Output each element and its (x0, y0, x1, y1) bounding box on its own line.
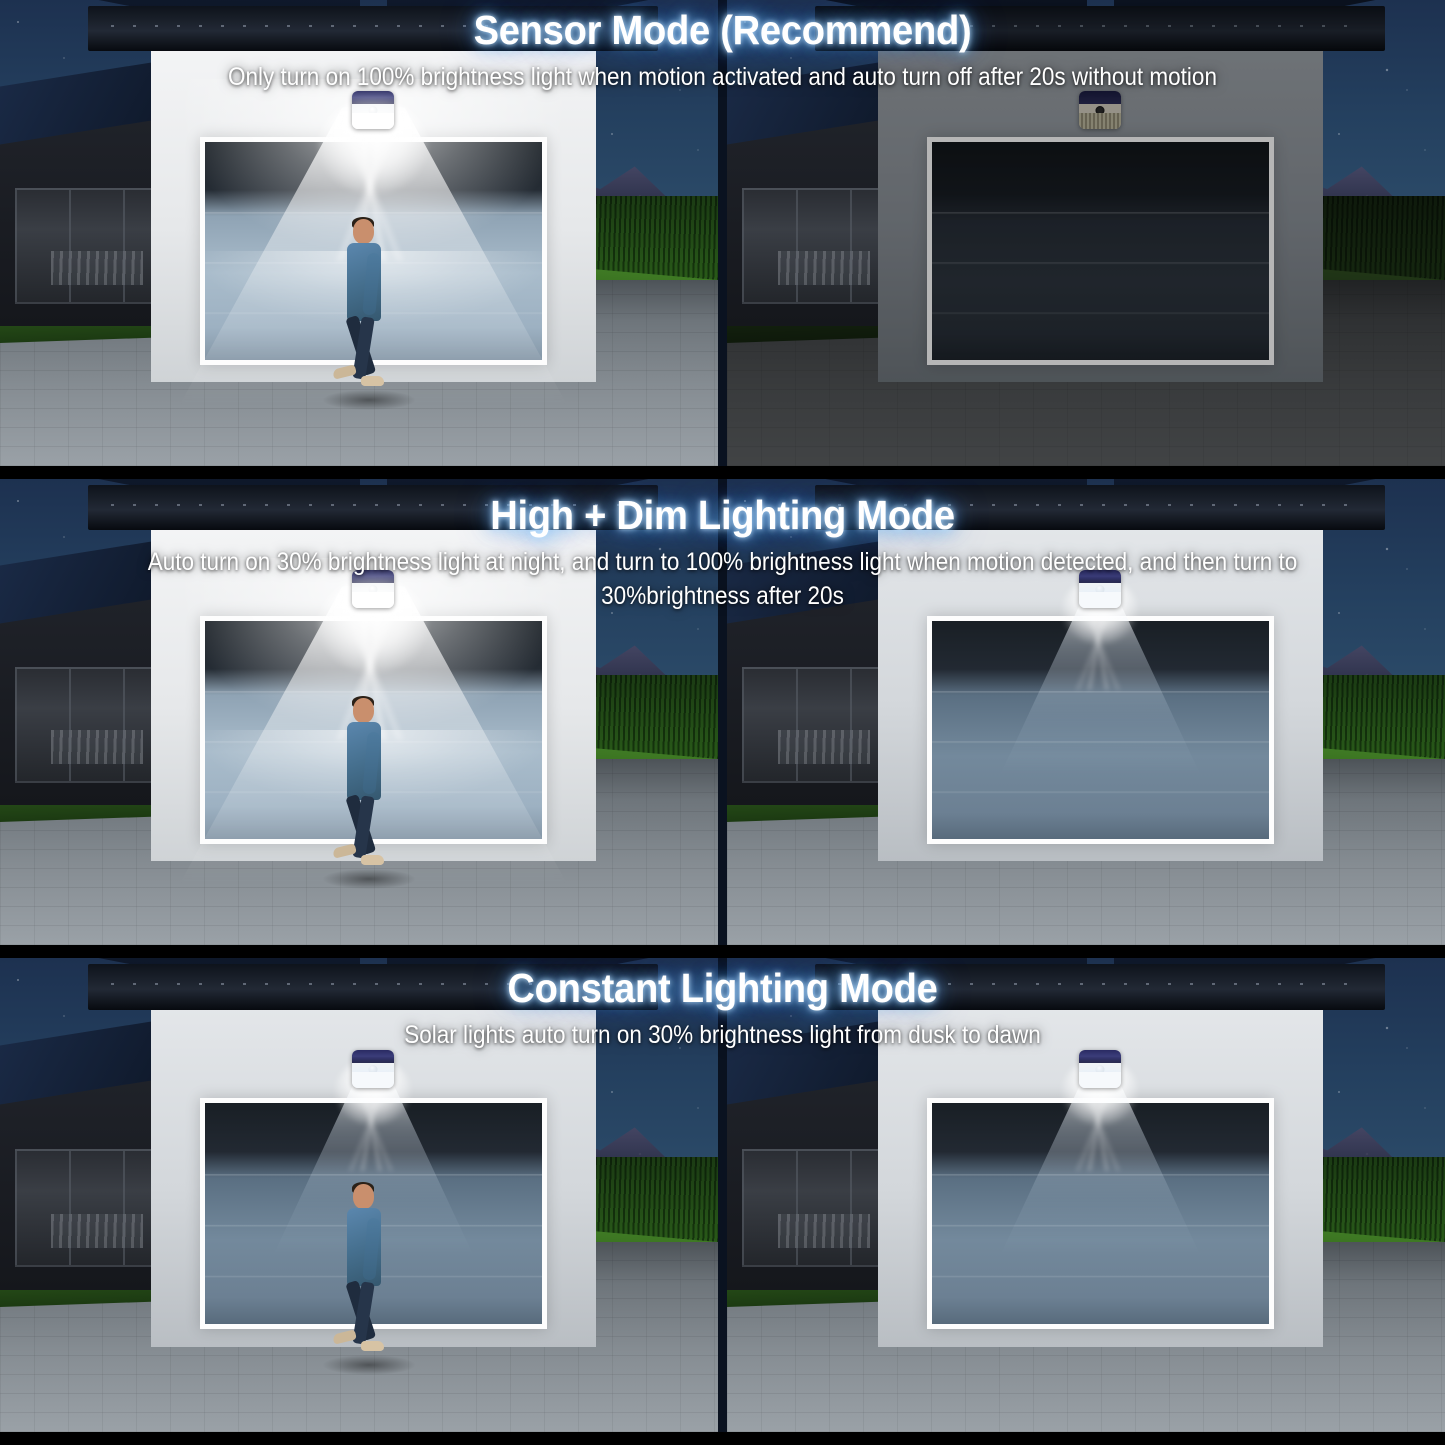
person-shoe-front (361, 855, 384, 865)
solar-panel (352, 91, 394, 104)
roof-eave (815, 964, 1385, 1010)
scene-constant-left (0, 958, 718, 1432)
person-shadow (323, 869, 415, 889)
led-panel (352, 113, 394, 129)
person-shadow (323, 390, 415, 410)
neighbour-interior (778, 730, 870, 764)
neighbour-interior (778, 251, 870, 285)
garage-building (878, 516, 1323, 861)
person-shoe-front (361, 1341, 384, 1351)
garage-door (932, 142, 1269, 360)
garage-building (878, 996, 1323, 1347)
mode-section-constant: Constant Lighting Mode Solar lights auto… (0, 958, 1445, 1432)
neighbour-interior (51, 1214, 143, 1248)
solar-light-fixture (1079, 570, 1121, 608)
row-divider (0, 945, 1445, 958)
garage-door-frame (927, 1098, 1274, 1329)
solar-light-fixture (352, 570, 394, 608)
scene-no-motion (727, 0, 1445, 466)
solar-light-modes-infographic: Sensor Mode (Recommend) Only turn on 100… (0, 0, 1445, 1445)
person-head (353, 219, 374, 244)
led-panel (352, 592, 394, 608)
person-head (353, 698, 374, 723)
neighbour-interior (778, 1214, 870, 1248)
scene-motion-detected (0, 0, 718, 466)
mode-section-high-dim: High + Dim Lighting Mode Auto turn on 30… (0, 479, 1445, 945)
solar-panel (1079, 91, 1121, 104)
walking-person (337, 219, 393, 391)
garage-building (878, 37, 1323, 382)
neighbour-interior (51, 730, 143, 764)
solar-panel (352, 1050, 394, 1063)
led-panel (1079, 1072, 1121, 1088)
garage-door-frame (927, 137, 1274, 365)
scene-motion-high (0, 479, 718, 945)
walking-person (337, 698, 393, 870)
person-head (353, 1184, 374, 1209)
solar-light-fixture (352, 91, 394, 129)
neighbour-interior (51, 251, 143, 285)
scene-pair-constant (0, 958, 1445, 1432)
scene-pair-sensor (0, 0, 1445, 466)
roof-eave (88, 964, 658, 1010)
led-panel (1079, 592, 1121, 608)
solar-panel (1079, 1050, 1121, 1063)
garage-door (932, 1103, 1269, 1324)
roof-eave (815, 6, 1385, 51)
row-divider (0, 466, 1445, 479)
led-panel (352, 1072, 394, 1088)
garage-door-frame (927, 616, 1274, 844)
walking-person (337, 1184, 393, 1356)
solar-light-fixture (352, 1050, 394, 1088)
solar-light-fixture (1079, 91, 1121, 129)
scene-idle-dim (727, 479, 1445, 945)
led-panel (1079, 113, 1121, 129)
scene-pair-high-dim (0, 479, 1445, 945)
roof-eave (88, 485, 658, 530)
mode-section-sensor: Sensor Mode (Recommend) Only turn on 100… (0, 0, 1445, 466)
roof-eave (815, 485, 1385, 530)
solar-panel (1079, 570, 1121, 583)
solar-panel (352, 570, 394, 583)
roof-eave (88, 6, 658, 51)
solar-light-fixture (1079, 1050, 1121, 1088)
garage-door (932, 621, 1269, 839)
person-shoe-front (361, 376, 384, 386)
scene-constant-right (727, 958, 1445, 1432)
